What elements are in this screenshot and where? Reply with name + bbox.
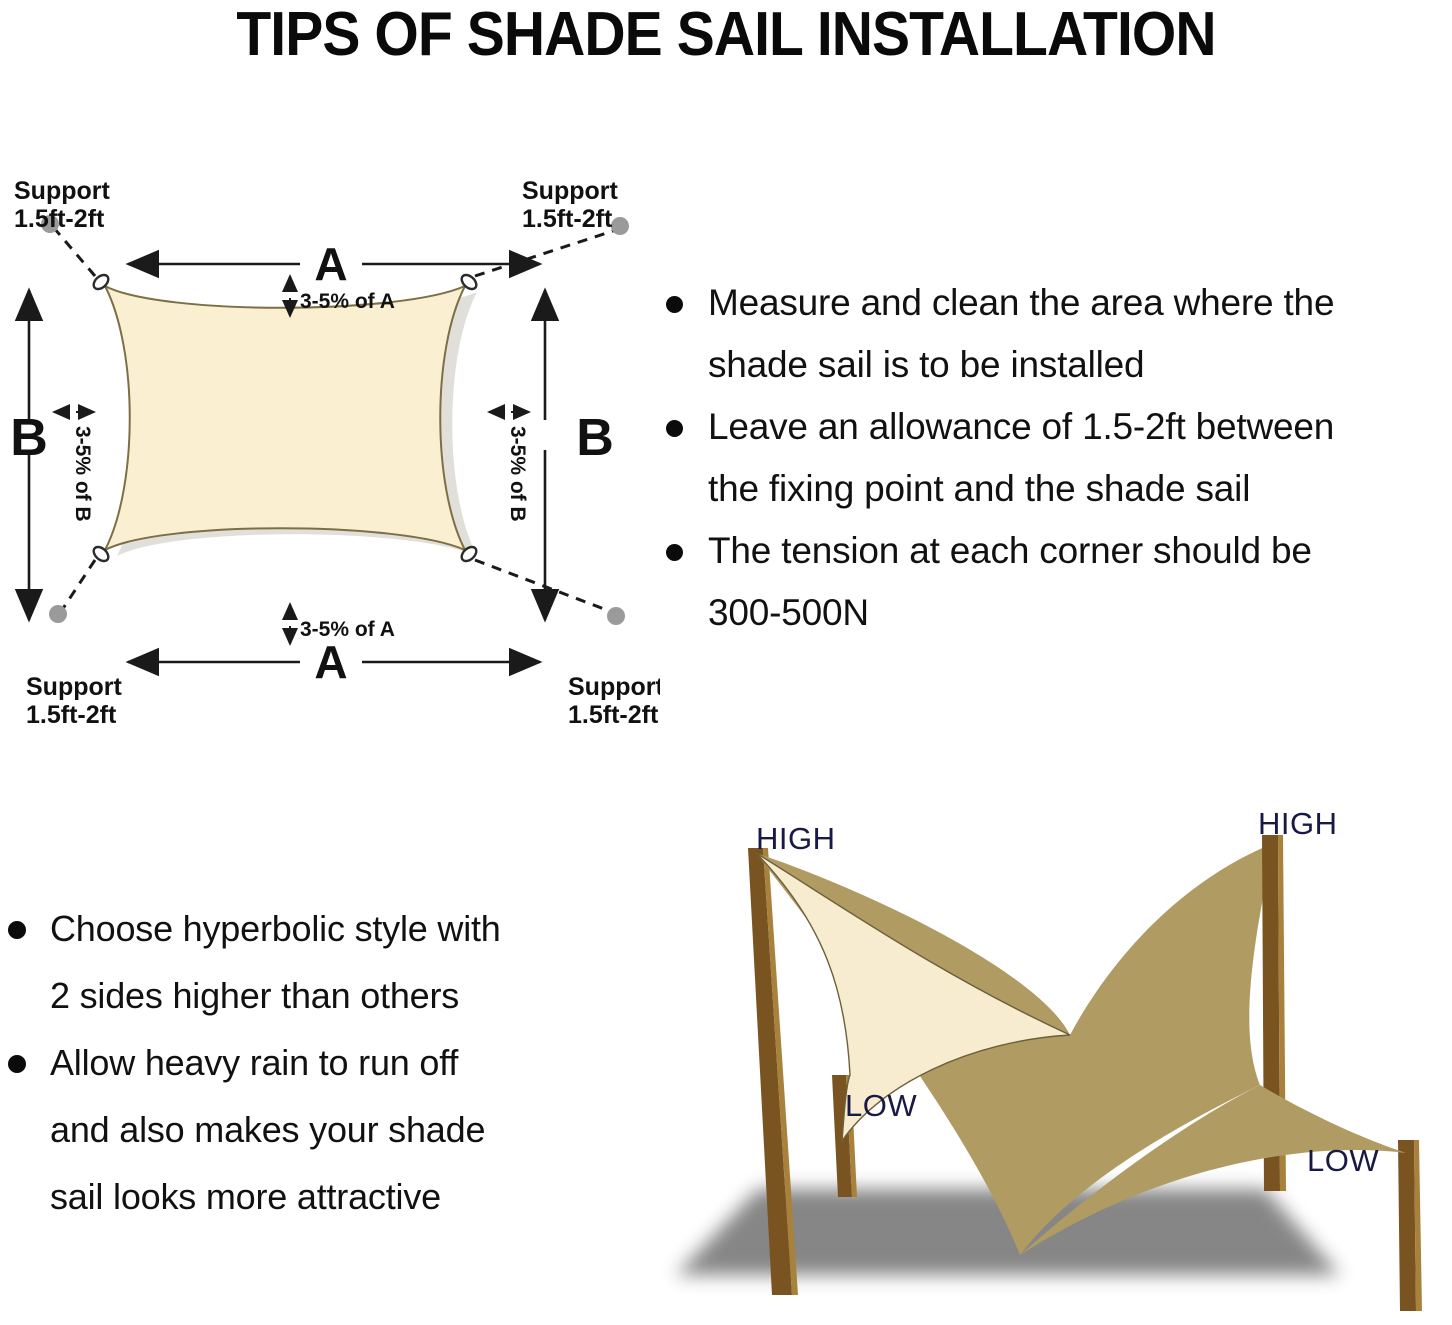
rect-sail-diagram: Support 1.5ft-2ft Support 1.5ft-2ft Supp… <box>0 150 660 750</box>
dimension-b-right-label: B <box>576 409 614 467</box>
support-dot-bottom-left <box>49 605 67 623</box>
dash-top-left <box>54 228 95 276</box>
hyperbolic-sail-illustration <box>640 785 1452 1325</box>
callout-top-curve-label: 3-5% of A <box>300 290 395 313</box>
installation-tips-list-right: Measure and clean the area where the sha… <box>652 272 1452 644</box>
support-label-value: 1.5ft-2ft <box>522 205 613 233</box>
list-item: Choose hyperbolic style with 2 sides hig… <box>2 895 642 1029</box>
label-high-right: HIGH <box>1258 806 1338 842</box>
list-item: Allow heavy rain to run off and also mak… <box>2 1029 642 1230</box>
dimension-a-bottom-label: A <box>314 636 347 688</box>
sail-body <box>105 286 465 550</box>
dimension-a-top-label: A <box>314 238 347 290</box>
tip-line: Choose hyperbolic style with <box>50 908 501 949</box>
support-dot-bottom-right <box>607 607 625 625</box>
label-high-left: HIGH <box>756 821 836 857</box>
callout-left-curve-label: 3-5% of B <box>71 426 94 522</box>
bullet-dot-icon <box>666 296 683 313</box>
callout-right-curve-label: 3-5% of B <box>506 426 529 522</box>
support-label-value: 1.5ft-2ft <box>568 701 659 729</box>
post-low-right <box>1398 1140 1422 1311</box>
infographic-page: TIPS OF SHADE SAIL INSTALLATION <box>0 0 1452 1325</box>
dash-bottom-left <box>62 560 95 610</box>
support-label-value: 1.5ft-2ft <box>26 701 117 729</box>
support-label-bottom-left: Support 1.5ft-2ft <box>26 673 122 729</box>
support-label-top-left: Support 1.5ft-2ft <box>14 177 110 233</box>
label-low-right: LOW <box>1307 1143 1379 1179</box>
tip-line: Measure and clean the area where the <box>708 282 1334 323</box>
tip-line: Allow heavy rain to run off <box>50 1042 458 1083</box>
bullet-dot-icon <box>8 1055 26 1073</box>
label-low-left: LOW <box>845 1088 917 1124</box>
list-item: Measure and clean the area where the sha… <box>652 272 1452 396</box>
tip-line: 2 sides higher than others <box>50 975 459 1016</box>
tip-line: sail looks more attractive <box>50 1176 441 1217</box>
bullet-dot-icon <box>8 921 26 939</box>
tip-line: shade sail is to be installed <box>708 344 1144 385</box>
support-label-text: Support <box>568 673 660 701</box>
support-label-value: 1.5ft-2ft <box>14 205 105 233</box>
tip-line: Leave an allowance of 1.5-2ft between <box>708 406 1334 447</box>
dash-bottom-right <box>475 560 612 612</box>
support-label-top-right: Support 1.5ft-2ft <box>522 177 618 233</box>
dimension-b-left-label: B <box>10 409 48 467</box>
callout-bottom-curve-label: 3-5% of A <box>300 618 395 641</box>
bullet-dot-icon <box>666 544 683 561</box>
tip-line: The tension at each corner should be <box>708 530 1312 571</box>
list-item: Leave an allowance of 1.5-2ft between th… <box>652 396 1452 520</box>
installation-tips-list-left: Choose hyperbolic style with 2 sides hig… <box>2 895 642 1230</box>
support-label-text: Support <box>522 177 618 205</box>
tip-line: 300-500N <box>708 592 869 633</box>
page-title: TIPS OF SHADE SAIL INSTALLATION <box>58 0 1394 68</box>
dash-top-right <box>475 230 616 276</box>
list-item: The tension at each corner should be 300… <box>652 520 1452 644</box>
support-label-text: Support <box>26 673 122 701</box>
support-label-text: Support <box>14 177 110 205</box>
tip-line: and also makes your shade <box>50 1109 485 1150</box>
bullet-dot-icon <box>666 420 683 437</box>
support-label-bottom-right: Support 1.5ft-2ft <box>568 673 660 729</box>
support-dot-top-right <box>611 217 629 235</box>
tip-line: the fixing point and the shade sail <box>708 468 1250 509</box>
